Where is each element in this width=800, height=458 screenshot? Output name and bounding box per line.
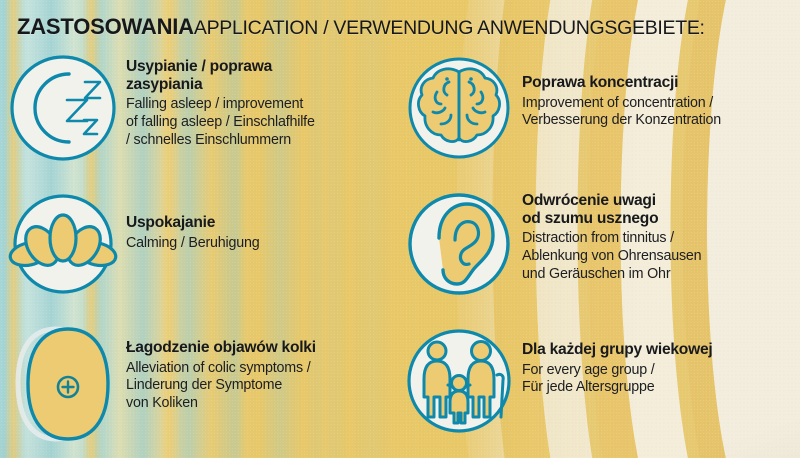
- left-column: Usypianie / poprawa zasypiania Falling a…: [0, 52, 400, 458]
- feature-subtitle: Falling asleep / improvement of falling …: [126, 96, 400, 149]
- feature-text: Dla każdej grupy wiekowej For every age …: [522, 323, 796, 397]
- feature-row-age-group: Dla każdej grupy wiekowej For every age …: [396, 323, 796, 458]
- family-age-group-icon: [401, 323, 517, 439]
- feature-title: Poprawa koncentracji: [522, 74, 796, 92]
- feature-text: Poprawa koncentracji Improvement of conc…: [522, 52, 796, 130]
- feature-title: Uspokajanie: [126, 214, 400, 232]
- brain-icon: [403, 52, 515, 164]
- ear-icon: [403, 188, 515, 300]
- feature-icon-wrap: [396, 323, 522, 439]
- feature-title: Łagodzenie objawów kolki: [126, 339, 400, 357]
- sleeping-moon-icon: [7, 52, 119, 164]
- feature-subtitle: Distraction from tinnitus / Ablenkung vo…: [522, 230, 796, 283]
- feature-row-concentration: Poprawa koncentracji Improvement of conc…: [396, 52, 796, 188]
- feature-icon-wrap: [0, 323, 126, 445]
- feature-icon-wrap: [0, 188, 126, 300]
- feature-text: Uspokajanie Calming / Beruhigung: [126, 188, 400, 252]
- feature-title: Dla każdej grupy wiekowej: [522, 341, 796, 359]
- feature-row-calming: Uspokajanie Calming / Beruhigung: [0, 188, 400, 323]
- feature-title: Usypianie / poprawa zasypiania: [126, 58, 400, 93]
- right-column: Poprawa koncentracji Improvement of conc…: [396, 52, 796, 458]
- feature-text: Usypianie / poprawa zasypiania Falling a…: [126, 52, 400, 149]
- page-title-strong: ZASTOSOWANIA: [17, 14, 194, 39]
- feature-row-colic: Łagodzenie objawów kolki Alleviation of …: [0, 323, 400, 458]
- feature-icon-wrap: [0, 52, 126, 164]
- feature-row-sleep: Usypianie / poprawa zasypiania Falling a…: [0, 52, 400, 188]
- feature-text: Łagodzenie objawów kolki Alleviation of …: [126, 323, 400, 413]
- package-panel: ZASTOSOWANIAAPPLICATION / VERWENDUNG ANW…: [0, 0, 800, 458]
- lotus-flower-icon: [7, 188, 119, 300]
- feature-title: Odwrócenie uwagi od szumu usznego: [522, 192, 796, 227]
- feature-subtitle: For every age group / Für jede Altersgru…: [522, 362, 796, 397]
- feature-row-tinnitus: Odwrócenie uwagi od szumu usznego Distra…: [396, 188, 796, 323]
- feature-icon-wrap: [396, 52, 522, 164]
- belly-colic-icon: [4, 323, 122, 445]
- feature-text: Odwrócenie uwagi od szumu usznego Distra…: [522, 188, 796, 283]
- feature-subtitle: Alleviation of colic symptoms / Linderun…: [126, 360, 400, 413]
- feature-subtitle: Improvement of concentration / Verbesser…: [522, 95, 796, 130]
- page-title-rest: APPLICATION / VERWENDUNG ANWENDUNGSGEBIE…: [194, 17, 705, 39]
- feature-subtitle: Calming / Beruhigung: [126, 235, 400, 253]
- feature-icon-wrap: [396, 188, 522, 300]
- page-title: ZASTOSOWANIAAPPLICATION / VERWENDUNG ANW…: [17, 14, 705, 40]
